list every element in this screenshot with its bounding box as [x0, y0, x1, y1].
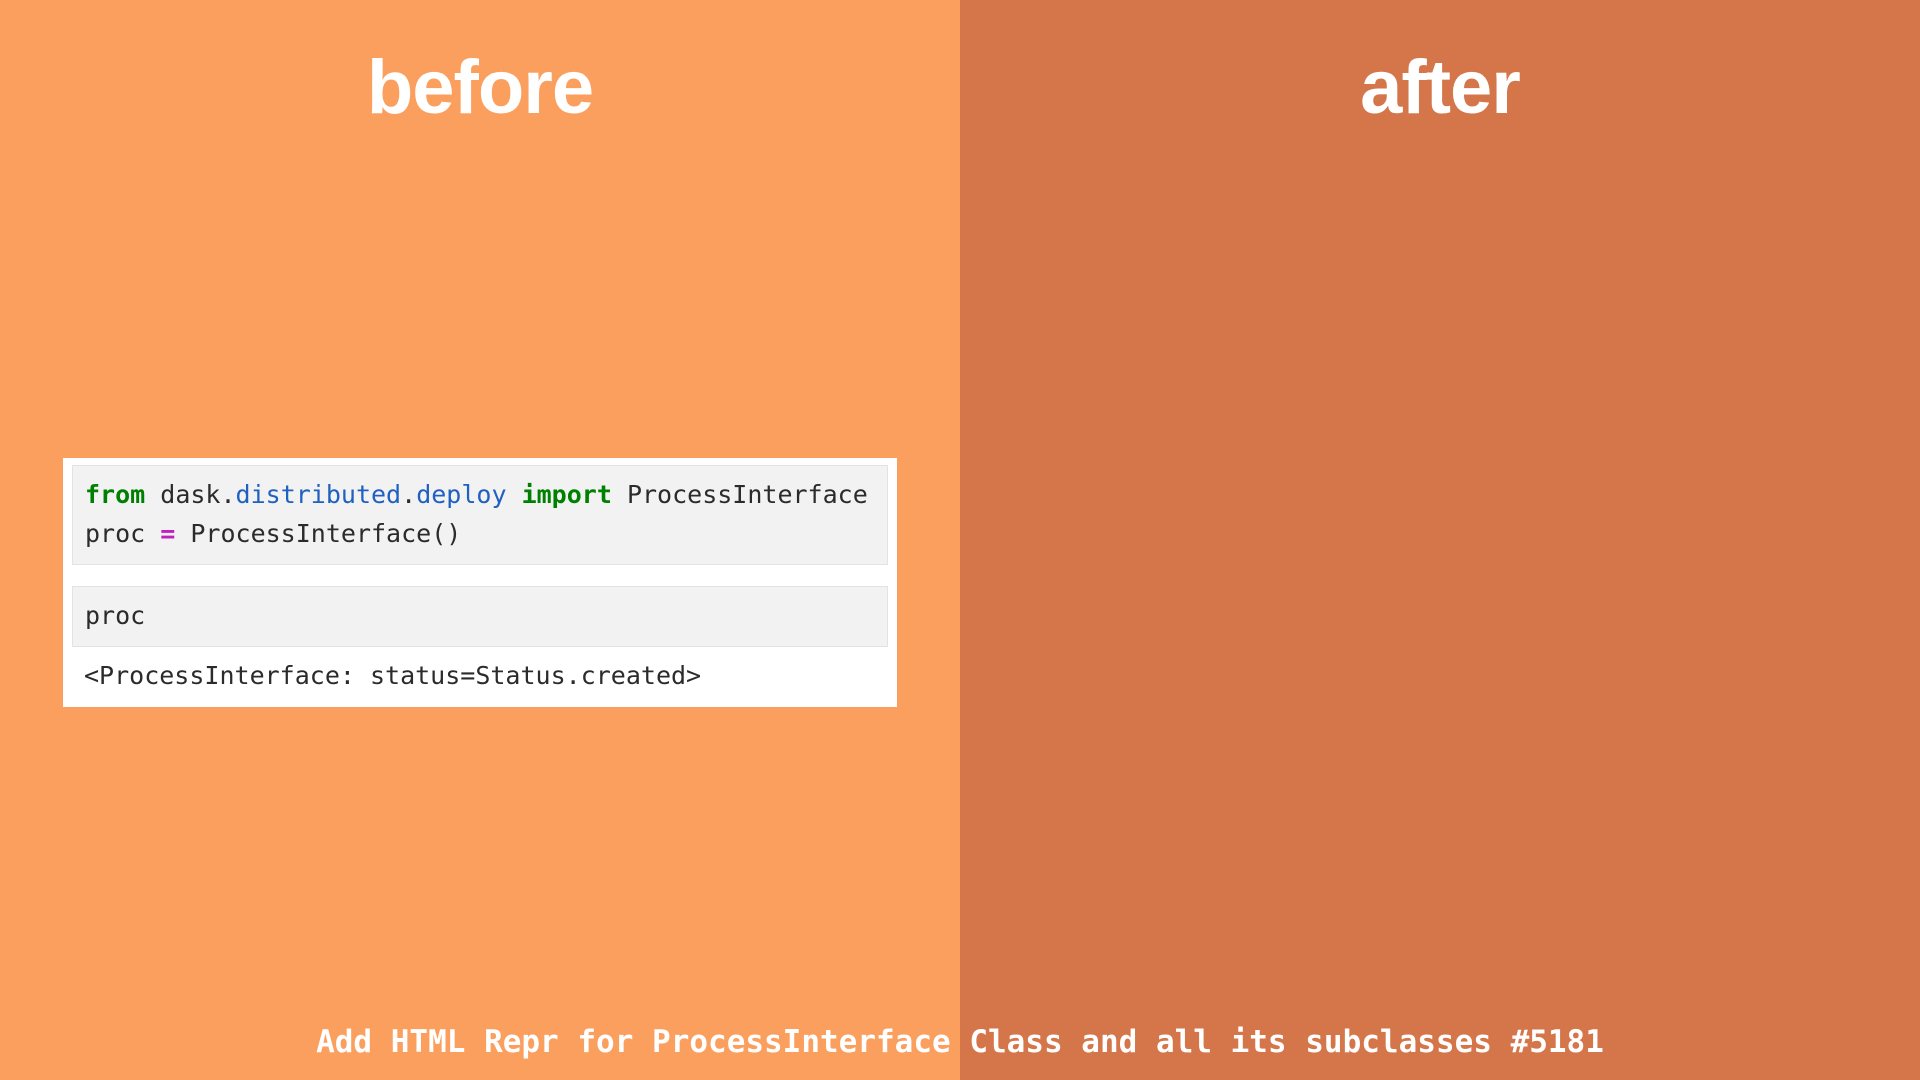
before-pane: before from dask.distributed.deploy impo… — [0, 0, 960, 1080]
dot: . — [401, 480, 416, 509]
keyword-import: import — [522, 480, 612, 509]
keyword-from: from — [85, 480, 145, 509]
after-pane: after [3]: proc.status = "created" proc.… — [960, 0, 1920, 1080]
module-deploy: deploy — [416, 480, 506, 509]
before-second-input-cell[interactable]: proc — [72, 586, 888, 647]
after-heading: after — [960, 42, 1920, 134]
space — [612, 480, 627, 509]
assign-operator: = — [160, 519, 175, 548]
space — [507, 480, 522, 509]
module-distributed: distributed — [236, 480, 402, 509]
space — [145, 480, 160, 509]
variable-proc: proc — [85, 519, 160, 548]
constructor-call: ProcessInterface() — [175, 519, 461, 548]
comparison-figure: before from dask.distributed.deploy impo… — [0, 0, 1920, 1080]
before-notebook-card: from dask.distributed.deploy import Proc… — [63, 458, 897, 707]
before-heading: before — [0, 42, 960, 134]
class-name: ProcessInterface — [627, 480, 868, 509]
cell-spacer — [63, 565, 897, 579]
before-output-text: <ProcessInterface: status=Status.created… — [72, 647, 888, 707]
package-name: dask. — [160, 480, 235, 509]
figure-caption: Add HTML Repr for ProcessInterface Class… — [0, 1022, 1920, 1062]
before-input-cell[interactable]: from dask.distributed.deploy import Proc… — [72, 465, 888, 565]
